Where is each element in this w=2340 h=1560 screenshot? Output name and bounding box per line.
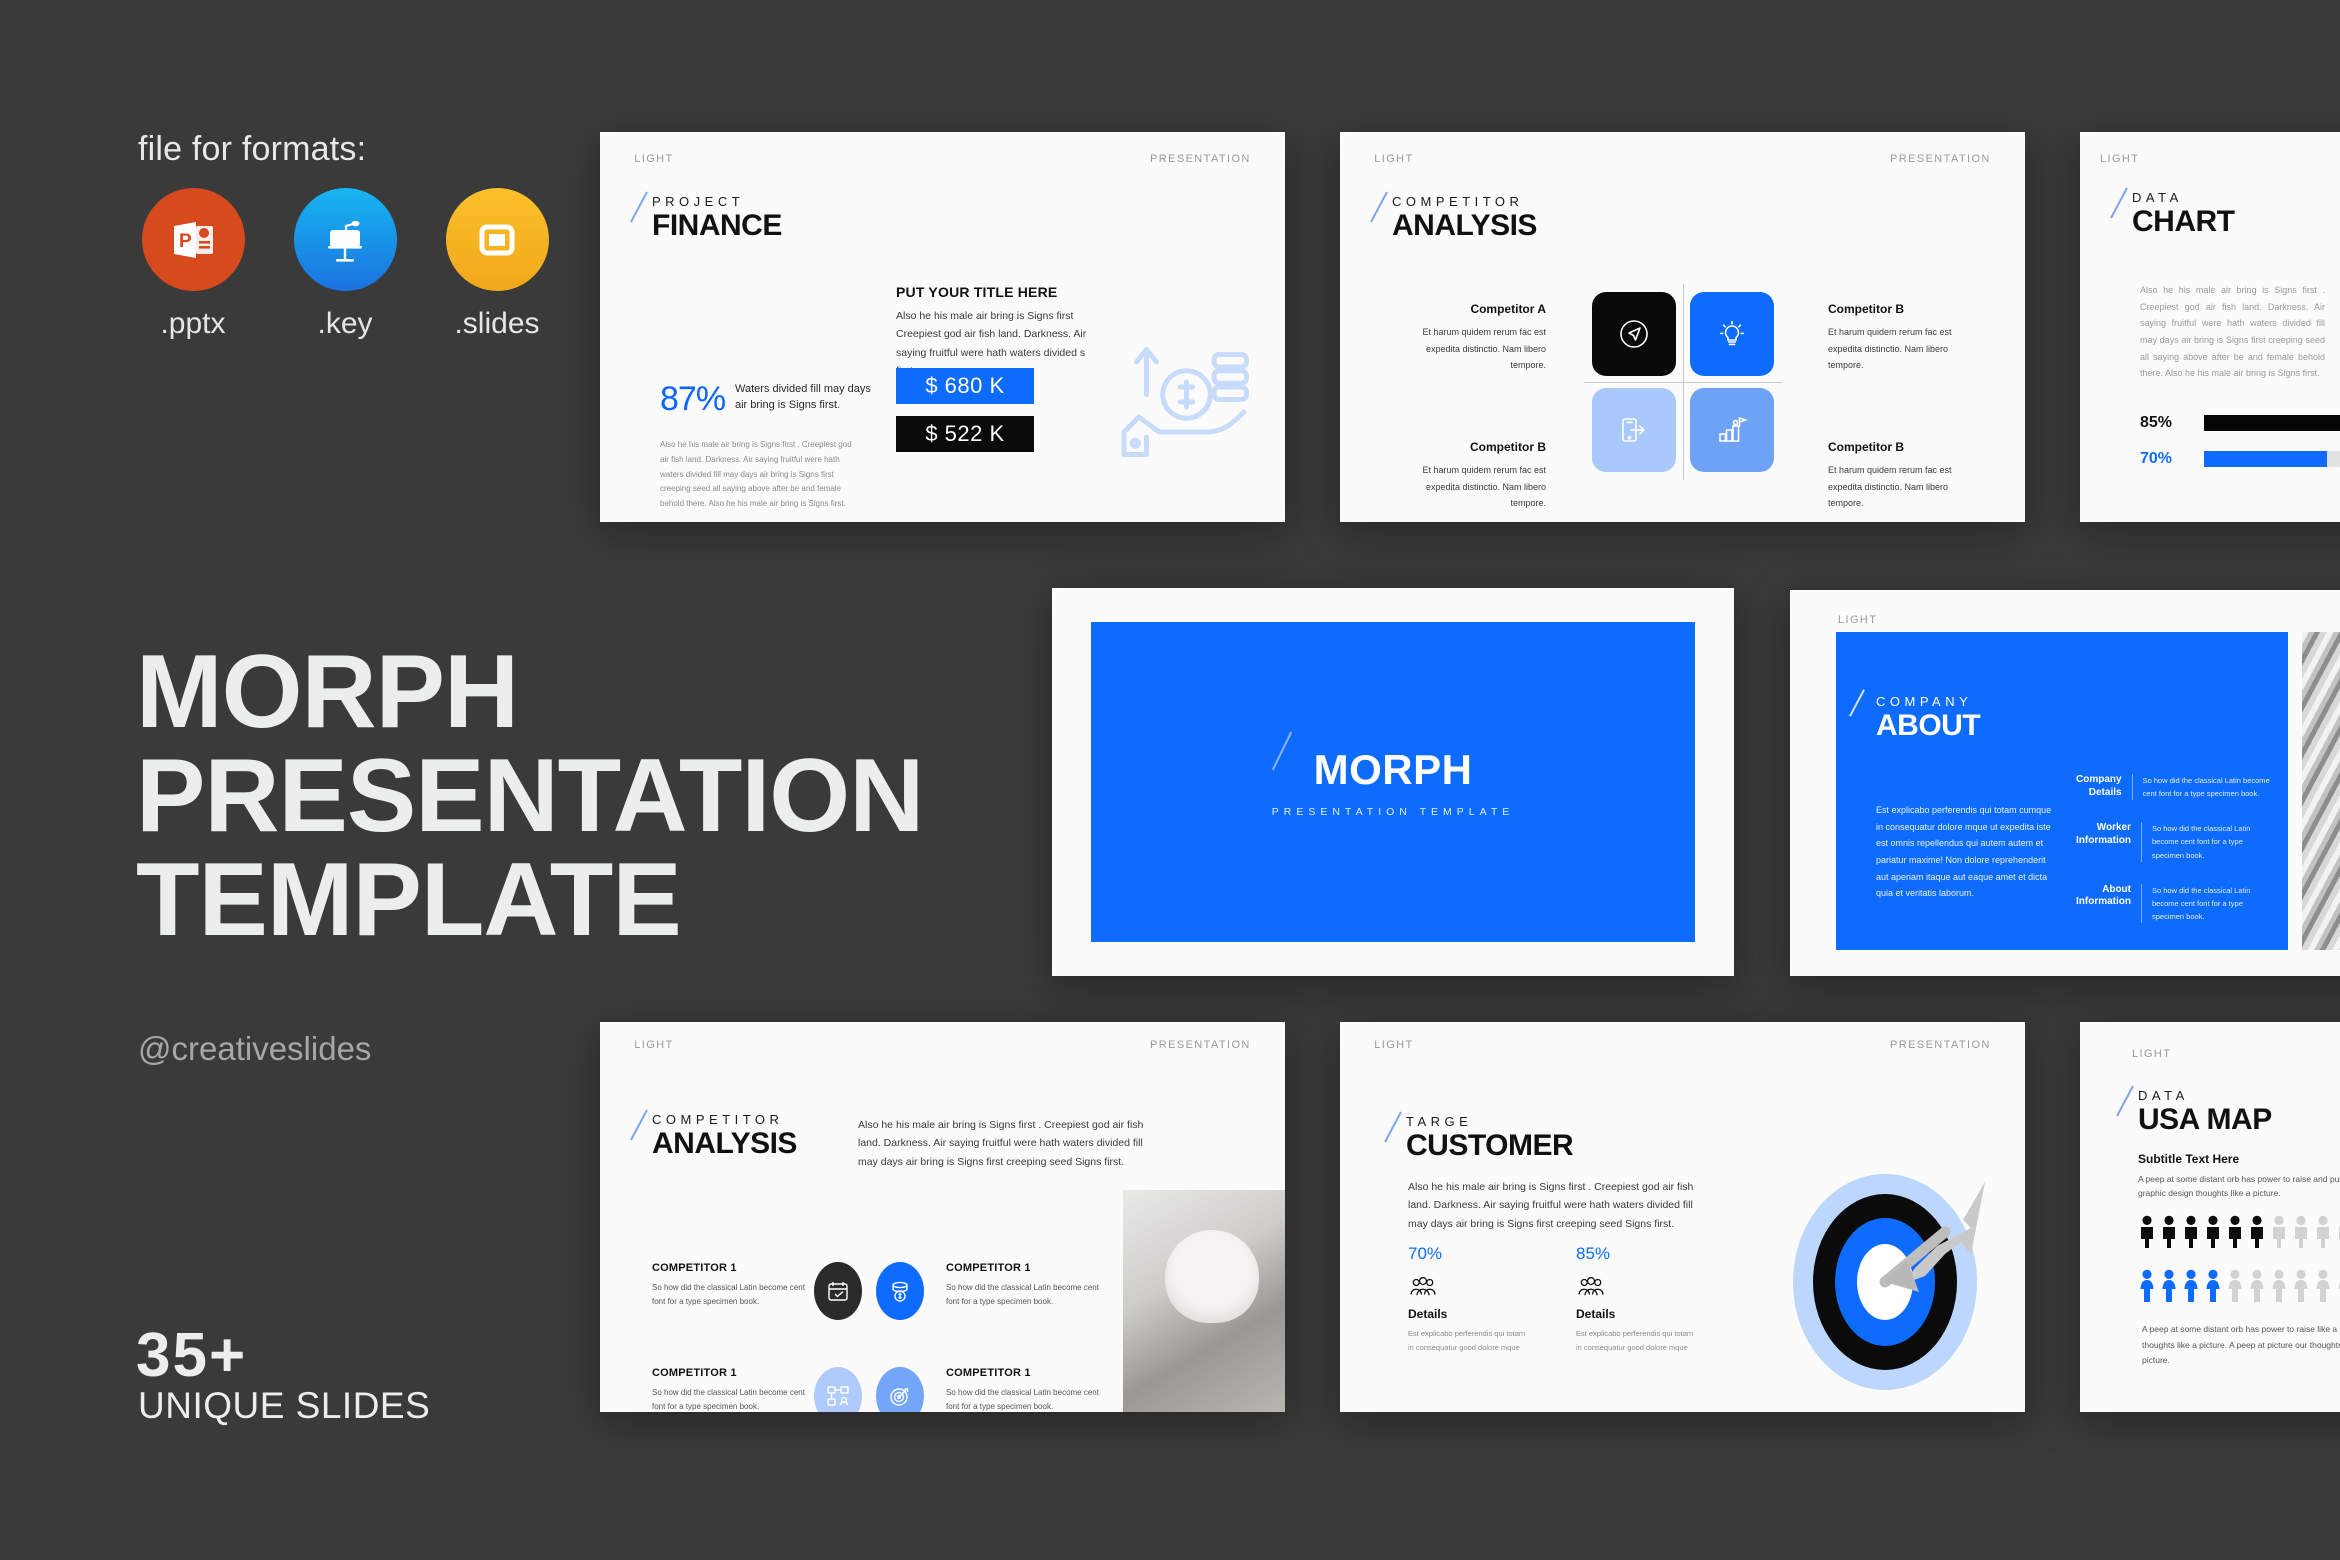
competitor2-icon-1[interactable] — [814, 1262, 862, 1320]
page-title: MORPH PRESENTATION TEMPLATE — [136, 640, 923, 952]
competitor-block-d: Competitor B Et harum quidem rerum fac e… — [1828, 440, 1978, 512]
competitor-block-b: Competitor B Et harum quidem rerum fac e… — [1828, 302, 1978, 374]
slide-tag-left: LIGHT — [1374, 1039, 1413, 1051]
competitor2-photo — [1123, 1190, 1285, 1412]
competitor2-title: COMPETITOR 1 — [652, 1262, 812, 1274]
about-item-value: So how did the classical Latin become ce… — [2133, 774, 2276, 800]
person-female-icon — [2204, 1269, 2222, 1303]
slide-count-number: 35+ — [136, 1320, 247, 1391]
competitor-body: Et harum quidem rerum fac est expedita d… — [1828, 324, 1978, 374]
person-male-icon — [2160, 1215, 2178, 1249]
about-item-value: So how did the classical Latin become ce… — [2142, 822, 2276, 861]
slide-heading: ABOUT — [1876, 711, 1980, 741]
title-line-2: PRESENTATION — [136, 744, 923, 848]
slide-header: LIGHT — [2080, 132, 2340, 187]
competitor2-title: COMPETITOR 1 — [946, 1262, 1106, 1274]
slash-decor-icon — [630, 1110, 648, 1141]
about-item-key: Worker Information — [2076, 822, 2142, 861]
slide-data-chart[interactable]: LIGHT DATA CHART Also he his male air br… — [2080, 132, 2340, 522]
title-line-1: MORPH — [136, 640, 923, 744]
target-stat-body: Est explicabo perferendis qui totam in c… — [1576, 1327, 1696, 1354]
title-line-3: TEMPLATE — [136, 848, 923, 952]
person-female-icon-inactive — [2336, 1269, 2340, 1303]
slide-title-block: TARGE CUSTOMER — [1406, 1114, 1573, 1161]
slide-competitor-analysis-quad[interactable]: LIGHT PRESENTATION COMPETITOR ANALYSIS — [1340, 132, 2025, 522]
slide-cover-morph[interactable]: MORPH PRESENTATION TEMPLATE — [1052, 588, 1734, 976]
target-stat-1: 70% Details Est explicabo perferendis qu… — [1408, 1244, 1528, 1354]
person-female-icon-inactive — [2292, 1269, 2310, 1303]
competitor2-icon-2[interactable] — [876, 1262, 924, 1320]
slide-company-about[interactable]: LIGHT COMPANY ABOUT Est explicabo perfer… — [1790, 590, 2340, 976]
person-female-icon — [2160, 1269, 2178, 1303]
slide-title-block: DATA USA MAP — [2138, 1088, 2272, 1135]
target-stat-title: Details — [1576, 1307, 1696, 1321]
slide-title-block: COMPANY ABOUT — [1876, 694, 1980, 741]
usa-footer-text: A peep at some distant orb has power to … — [2142, 1322, 2340, 1369]
quadrant-matrix — [1592, 292, 1774, 472]
target-stat-body: Est explicabo perferendis qui totam in c… — [1408, 1327, 1528, 1354]
slide-heading: CUSTOMER — [1406, 1131, 1573, 1161]
slide-tag-left: LIGHT — [1374, 153, 1413, 165]
people-group-icon — [1408, 1276, 1438, 1298]
person-male-icon — [2182, 1215, 2200, 1249]
competitor2-body: So how did the classical Latin become ce… — [946, 1281, 1106, 1309]
competitor-title: Competitor B — [1396, 440, 1546, 454]
slide-eyebrow: PROJECT — [652, 194, 782, 209]
axis-horizontal — [1584, 382, 1782, 383]
format-pptx[interactable]: P .pptx — [138, 188, 248, 341]
usa-subtitle-body: A peep at some distant orb has power to … — [2138, 1172, 2340, 1201]
cover-logo: MORPH — [1314, 746, 1473, 794]
slash-decor-icon — [1272, 732, 1292, 771]
person-female-icon-inactive — [2226, 1269, 2244, 1303]
keynote-icon — [294, 188, 397, 291]
competitor2-block-2: COMPETITOR 1 So how did the classical La… — [946, 1262, 1106, 1309]
slide-heading: FINANCE — [652, 211, 782, 241]
slide-eyebrow: COMPETITOR — [1392, 194, 1537, 209]
finance-kpi-primary[interactable]: $ 680 K — [896, 368, 1034, 404]
competitor2-block-4: COMPETITOR 1 So how did the classical La… — [946, 1367, 1106, 1412]
slide-target-customer[interactable]: LIGHT PRESENTATION TARGE CUSTOMER Also h… — [1340, 1022, 2025, 1412]
formats-row: P .pptx .key — [138, 188, 552, 341]
about-item-key: About Information — [2076, 884, 2142, 923]
quad-cell-1[interactable] — [1592, 292, 1676, 376]
slide-data-usa-map[interactable]: LIGHT DATA USA MAP Subtitle Text Here A … — [2080, 1022, 2340, 1412]
person-female-icon-inactive — [2248, 1269, 2266, 1303]
slide-heading: ANALYSIS — [1392, 211, 1537, 241]
chart-bar-label-2: 70% — [2140, 450, 2186, 468]
competitor-body: Et harum quidem rerum fac est expedita d… — [1396, 324, 1546, 374]
about-item: Worker Information So how did the classi… — [2076, 822, 2276, 861]
usa-pictogram-row-female: 40 — [2138, 1268, 2340, 1304]
chart-bar-fill-2 — [2204, 451, 2327, 467]
slide-header: LIGHT PRESENTATION — [600, 132, 1285, 187]
finance-percent-note: Waters divided fill may days air bring i… — [735, 382, 875, 414]
calendar-check-icon — [826, 1279, 850, 1303]
growth-flag-icon — [1715, 413, 1749, 447]
coin-stack-icon — [888, 1279, 912, 1303]
slide-header: LIGHT PRESENTATION — [1340, 132, 2025, 187]
slide-header: LIGHT PRESENTATION — [1340, 1022, 2025, 1069]
slash-decor-icon — [2110, 188, 2128, 219]
finance-percent: 87% — [660, 380, 725, 419]
person-male-icon-inactive — [2292, 1215, 2310, 1249]
slide-eyebrow: COMPETITOR — [652, 1112, 797, 1127]
dartboard-with-arrow-icon — [1785, 1142, 1995, 1392]
quad-cell-4[interactable] — [1690, 388, 1774, 472]
slide-tag-left: LIGHT — [634, 1039, 673, 1051]
social-handle: @creativeslides — [138, 1030, 371, 1068]
slide-title-block: PROJECT FINANCE — [652, 194, 782, 241]
competitor2-icon-3[interactable] — [814, 1367, 862, 1412]
about-item-key: Company Details — [2076, 774, 2133, 800]
competitor-title: Competitor A — [1396, 302, 1546, 316]
finance-kpi-secondary[interactable]: $ 522 K — [896, 416, 1034, 452]
formats-heading: file for formats: — [138, 130, 366, 169]
competitor2-body: So how did the classical Latin become ce… — [946, 1386, 1106, 1412]
target-stat-title: Details — [1408, 1307, 1528, 1321]
competitor-block-c: Competitor B Et harum quidem rerum fac e… — [1396, 440, 1546, 512]
slide-tag-left: LIGHT — [634, 153, 673, 165]
team-network-icon — [826, 1384, 850, 1408]
format-key[interactable]: .key — [290, 188, 400, 341]
slide-heading: ANALYSIS — [652, 1129, 797, 1159]
slash-decor-icon — [2116, 1086, 2134, 1117]
format-slides[interactable]: .slides — [442, 188, 552, 341]
chart-bar-track-1 — [2204, 415, 2340, 431]
slide-tag-left: LIGHT — [1838, 614, 1877, 626]
finance-mid-title: PUT YOUR TITLE HERE — [896, 284, 1057, 300]
competitor2-title: COMPETITOR 1 — [652, 1367, 812, 1379]
slash-decor-icon — [1370, 192, 1388, 223]
competitor-body: Et harum quidem rerum fac est expedita d… — [1828, 462, 1978, 512]
target-stat-value: 70% — [1408, 1244, 1528, 1264]
competitor2-body: So how did the classical Latin become ce… — [652, 1281, 812, 1309]
competitor2-title: COMPETITOR 1 — [946, 1367, 1106, 1379]
slide-tag-left: LIGHT — [2132, 1048, 2171, 1060]
about-item: Company Details So how did the classical… — [2076, 774, 2276, 800]
target-intro: Also he his male air bring is Signs firs… — [1408, 1178, 1708, 1233]
competitor-block-a: Competitor A Et harum quidem rerum fac e… — [1396, 302, 1546, 374]
money-in-hand-icon — [1109, 322, 1259, 472]
person-male-icon — [2248, 1215, 2266, 1249]
quad-cell-2[interactable] — [1690, 292, 1774, 376]
slash-decor-icon — [630, 192, 648, 223]
person-male-icon — [2138, 1215, 2156, 1249]
chart-bar-fill-1 — [2204, 415, 2340, 431]
about-body-text: Est explicabo perferendis qui totam cumq… — [1876, 802, 2056, 902]
format-slides-label: .slides — [454, 307, 539, 341]
slide-eyebrow: COMPANY — [1876, 694, 1980, 709]
about-item: About Information So how did the classic… — [2076, 884, 2276, 923]
slide-tag-right: PRESENTATION — [1150, 1039, 1251, 1051]
powerpoint-icon: P — [142, 188, 245, 291]
slide-eyebrow: DATA — [2132, 190, 2235, 205]
finance-blurb: Also he his male air bring is Signs firs… — [660, 438, 860, 512]
competitor2-icon-4[interactable] — [876, 1367, 924, 1412]
person-male-icon — [2226, 1215, 2244, 1249]
slide-count-label: UNIQUE SLIDES — [138, 1385, 430, 1427]
person-male-icon-inactive — [2336, 1215, 2340, 1249]
format-pptx-label: .pptx — [160, 307, 225, 341]
person-female-icon-inactive — [2270, 1269, 2288, 1303]
usa-pictogram-row-male: 60 — [2138, 1214, 2340, 1250]
lightbulb-icon — [1715, 317, 1749, 351]
about-detail-list: Company Details So how did the classical… — [2076, 774, 2276, 945]
format-key-label: .key — [317, 307, 372, 341]
slide-tag-right: PRESENTATION — [1890, 153, 1991, 165]
person-female-icon-inactive — [2314, 1269, 2332, 1303]
chart-bar-row-2: 70% — [2140, 450, 2340, 468]
chart-bar-row-1: 85% — [2140, 414, 2340, 432]
chart-bar-track-2 — [2204, 451, 2340, 467]
cover-panel: MORPH PRESENTATION TEMPLATE — [1091, 622, 1695, 942]
target-icon — [888, 1384, 912, 1408]
about-building-photo — [2302, 632, 2340, 950]
slide-eyebrow: TARGE — [1406, 1114, 1573, 1129]
usa-subtitle: Subtitle Text Here — [2138, 1152, 2239, 1166]
target-stat-value: 85% — [1576, 1244, 1696, 1264]
target-stat-2: 85% Details Est explicabo perferendis qu… — [1576, 1244, 1696, 1354]
slash-decor-icon — [1384, 1112, 1402, 1143]
slide-title-block: COMPETITOR ANALYSIS — [652, 1112, 797, 1159]
about-blue-panel: COMPANY ABOUT Est explicabo perferendis … — [1836, 632, 2288, 950]
competitor2-block-1: COMPETITOR 1 So how did the classical La… — [652, 1262, 812, 1309]
slide-eyebrow: DATA — [2138, 1088, 2272, 1103]
person-male-icon — [2204, 1215, 2222, 1249]
slide-tag-left: LIGHT — [2100, 153, 2139, 165]
competitor2-intro: Also he his male air bring is Signs firs… — [858, 1116, 1163, 1171]
person-male-icon-inactive — [2314, 1215, 2332, 1249]
slide-tag-right: PRESENTATION — [1150, 153, 1251, 165]
slide-project-finance[interactable]: LIGHT PRESENTATION PROJECT FINANCE 87% W… — [600, 132, 1285, 522]
slide-competitor-analysis-photo[interactable]: LIGHT PRESENTATION COMPETITOR ANALYSIS A… — [600, 1022, 1285, 1412]
chart-blurb: Also he his male air bring is Signs firs… — [2140, 282, 2325, 382]
competitor-body: Et harum quidem rerum fac est expedita d… — [1396, 462, 1546, 512]
person-male-icon-inactive — [2270, 1215, 2288, 1249]
about-item-value: So how did the classical Latin become ce… — [2142, 884, 2276, 923]
person-female-icon — [2138, 1269, 2156, 1303]
poster-stage: file for formats: P .pptx — [0, 0, 2340, 1560]
cover-subtitle: PRESENTATION TEMPLATE — [1272, 806, 1515, 818]
slide-title-block: COMPETITOR ANALYSIS — [1392, 194, 1537, 241]
slash-decor-icon — [1849, 689, 1865, 716]
slide-tag-right: PRESENTATION — [1890, 1039, 1991, 1051]
slide-heading: CHART — [2132, 207, 2235, 237]
quad-cell-3[interactable] — [1592, 388, 1676, 472]
svg-text:P: P — [179, 231, 192, 252]
slide-heading: USA MAP — [2138, 1105, 2272, 1135]
chart-bar-label-1: 85% — [2140, 414, 2186, 432]
person-female-icon — [2182, 1269, 2200, 1303]
competitor2-body: So how did the classical Latin become ce… — [652, 1386, 812, 1412]
navigation-arrow-icon — [1617, 317, 1651, 351]
mobile-exit-icon — [1617, 413, 1651, 447]
slide-header: LIGHT PRESENTATION — [600, 1022, 1285, 1069]
people-group-icon — [1576, 1276, 1606, 1298]
competitor2-block-3: COMPETITOR 1 So how did the classical La… — [652, 1367, 812, 1412]
google-slides-icon — [446, 188, 549, 291]
competitor-title: Competitor B — [1828, 302, 1978, 316]
slide-title-block: DATA CHART — [2132, 190, 2235, 237]
competitor-title: Competitor B — [1828, 440, 1978, 454]
